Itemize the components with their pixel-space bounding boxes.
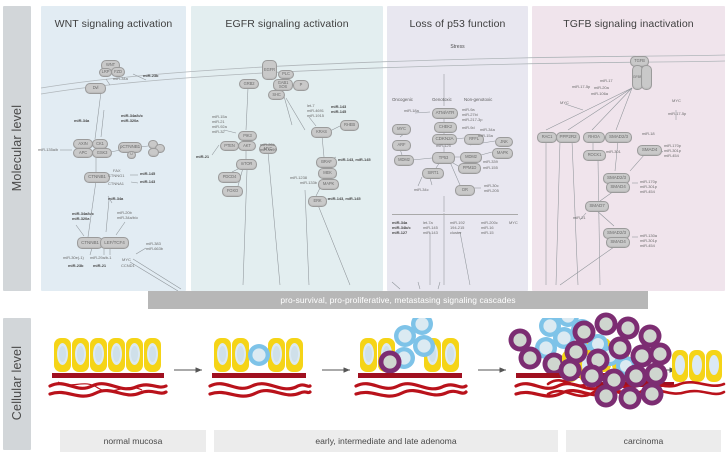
- mirna-label: miR-130a miR-301p miR-454: [640, 234, 657, 249]
- mirna-label: miR-133b: [300, 181, 317, 186]
- node-ppp2r2: PPP2R2: [556, 132, 580, 143]
- node-ppm1d: PPM1D: [458, 163, 481, 174]
- p53-bottom-divider: [392, 214, 518, 215]
- mirna-label: miR-106a: [591, 92, 608, 97]
- node-mtor: mTOR: [236, 159, 257, 170]
- mirna-label: miR-17-5p: [668, 112, 686, 117]
- p53-column-header: Genotoxic: [432, 97, 452, 102]
- node-tp53: TP53: [432, 152, 455, 164]
- mirna-label: miR-29a/b-1: [90, 256, 111, 261]
- mirna-label: miR-34a/b/c miR-320a: [72, 212, 94, 222]
- protein-text-ctnna1: CTNNA1: [108, 181, 124, 186]
- mirna-label: miR-34a: [108, 197, 123, 202]
- mirna-label: miR-21: [196, 155, 209, 160]
- node-rheb: RHEB: [340, 120, 359, 131]
- node-mdm2: MDM2: [460, 152, 482, 163]
- mirna-label: miR-21: [573, 216, 586, 221]
- mirna-label: miR-143, miR-145: [328, 197, 361, 202]
- panel-tgfb-signaling: TGFB signaling inactivation: [532, 6, 725, 291]
- node-chek2: CHEK2: [434, 122, 457, 133]
- node-mek: MEK: [318, 168, 337, 179]
- node-dr: DR: [455, 185, 475, 196]
- node-rhoa: RHOA: [583, 132, 605, 143]
- node-erk: ERK: [308, 196, 327, 207]
- mirna-label: miR-30e(-1): [63, 256, 84, 261]
- cascade-summary-label: pro-survival, pro-proliferative, metasta…: [280, 295, 515, 305]
- node-atm-atr: ATM/ATR: [432, 108, 458, 119]
- protein-text-myc-t2: MYC: [672, 98, 681, 103]
- stage-label-adenoma: early, intermediate and late adenoma: [214, 430, 558, 452]
- mirna-label: miR-18a: [404, 109, 419, 114]
- node-shc: SHC: [268, 90, 285, 100]
- mirna-label: miR-17-5p: [572, 85, 590, 90]
- mirna-label: let-7a miR-145 miR-143: [423, 221, 438, 236]
- node-smad4c: SMAD4: [606, 237, 630, 248]
- mirna-label: miR-200c miR-16 miR-15: [481, 221, 498, 236]
- node-myc-p: MYC: [392, 124, 411, 135]
- stage-label-normal-mucosa: normal mucosa: [60, 430, 206, 452]
- node-p-node: P: [293, 80, 309, 91]
- mirna-label: MYC: [509, 221, 518, 226]
- mirna-label: miR-34a: [74, 119, 89, 124]
- mirna-label: miR-34a: [480, 128, 495, 133]
- mirna-label: miR-145: [140, 172, 155, 177]
- mirna-label: miR-20b miR-34a/b/c: [117, 211, 138, 221]
- mirna-label: miR-301: [606, 150, 621, 155]
- mirna-label: miR-383 miR-663b: [146, 242, 163, 252]
- panel-title-wnt: WNT signaling activation: [41, 18, 186, 30]
- node-mapk: MAPK: [318, 179, 339, 190]
- node-akt: AKT: [238, 141, 256, 151]
- level-bar-molecular: Molecular level: [3, 6, 31, 291]
- mirna-label: miR-15a miR-21 miR-92a miR-32: [212, 115, 227, 135]
- node-tgfbr1: [641, 65, 652, 90]
- protein-text-myc: MYC: [122, 257, 131, 262]
- stage-label-carcinoma: carcinoma: [566, 430, 721, 452]
- mirna-label: miR-170p miR-301p miR-454: [664, 144, 681, 159]
- p53-column-header: Non-genotoxic: [464, 97, 492, 102]
- stage-adenoma-text: early, intermediate and late adenoma: [315, 436, 456, 446]
- node-smad4a: SMAD4: [637, 145, 662, 156]
- node-egfr: EGFR: [262, 60, 277, 80]
- mirna-label: let-7 miR-4691 miR-1915: [307, 104, 324, 119]
- mirna-label: miR-23b: [143, 74, 158, 79]
- stage-normal-text: normal mucosa: [104, 436, 163, 446]
- mirna-label: miR-34a/b/c miR-320a: [121, 114, 143, 124]
- mirna-label: miR-30c miR-205: [484, 184, 499, 194]
- node-proteasome3: [148, 148, 159, 157]
- node-ub: U: [127, 151, 136, 159]
- node-smad4b: SMAD4: [606, 182, 630, 193]
- node-sirt1: SIRT1: [422, 168, 444, 179]
- mirna-label: miR-192 194-215 cluster: [450, 221, 465, 236]
- cascade-summary-bar: pro-survival, pro-proliferative, metasta…: [148, 291, 648, 309]
- mirna-label: miR-21: [93, 264, 106, 269]
- node-lef-tcf4: LEF/TCF4: [100, 237, 129, 249]
- node-pten: PTEN: [220, 141, 239, 151]
- mirna-label: miR-34c: [414, 188, 429, 193]
- mirna-label: miR-143 miR-145: [331, 105, 346, 115]
- node-apc: APC: [73, 148, 93, 158]
- panel-title-egfr: EGFR signaling activation: [191, 18, 383, 30]
- node-braf: BRAF: [316, 157, 337, 168]
- panel-title-tgfb: TGFB signaling inactivation: [532, 18, 725, 30]
- node-plc: PLC: [278, 70, 294, 79]
- mirna-label: miR-26b miR-ss99: [260, 143, 277, 153]
- mirna-label: miR-125: [436, 144, 451, 149]
- mirna-label: miR-143, miR-145: [338, 158, 371, 163]
- mirna-label: miR-170p miR-301p miR-454: [640, 180, 657, 195]
- mirna-label: miR-9d: [462, 126, 475, 131]
- mirna-label: miR-18: [642, 132, 655, 137]
- node-mdm2b: MDM2: [394, 155, 414, 166]
- node-kras: KRAS: [311, 127, 332, 138]
- node-ctnnb1-free: CTNNB1: [84, 172, 110, 183]
- mirna-label: miR-34a miR-34b/c miR-127: [392, 221, 411, 236]
- protein-text-ccnd1: CCND1: [121, 263, 135, 268]
- level-bar-cellular: Cellular level: [3, 318, 31, 450]
- node-smad7: SMAD7: [585, 201, 609, 212]
- carcinoma-artwork: [540, 310, 728, 430]
- panel-title-p53: Loss of p53 function: [387, 18, 528, 30]
- mirna-label: miR-155: [483, 166, 498, 171]
- stage-carcinoma-text: carcinoma: [624, 436, 664, 446]
- node-arf: ARF: [392, 140, 411, 151]
- node-smad23a: SMAD2/3: [605, 132, 632, 143]
- node-dvl: Dvl: [85, 83, 106, 94]
- node-mapk-p: MAPK: [492, 148, 513, 159]
- p53-column-header: Oncogenic: [392, 97, 413, 102]
- mirna-label: miR-143: [140, 180, 155, 185]
- level-label-molecular: Molecular level: [10, 100, 24, 196]
- mirna-label: miR-23b: [68, 264, 83, 269]
- mirna-label: miR-9a miR-27bi miR-217-3p: [462, 108, 482, 123]
- p53-stress-label: Stress: [387, 44, 528, 50]
- level-label-cellular: Cellular level: [10, 341, 24, 425]
- node-grb2: GRB2: [239, 79, 259, 89]
- protein-text-myc-t1: MYC: [560, 100, 569, 105]
- mirna-label: miR-17: [600, 79, 613, 84]
- node-gsk3: GSK3: [92, 148, 112, 158]
- mirna-label: miR-34a: [113, 77, 128, 82]
- mirna-label: miR-15a: [478, 134, 493, 139]
- node-jnk: JNK: [495, 137, 513, 147]
- mirna-label: miR-135a/b: [38, 148, 58, 153]
- node-pdcd4: PDCD4: [218, 172, 241, 183]
- node-rock1: ROCK1: [583, 150, 606, 161]
- protein-text-ctnng1: CTNNG1: [108, 173, 124, 178]
- node-pik3: PIK3: [238, 131, 257, 141]
- node-foxo: FOXO: [222, 186, 243, 197]
- node-rac1: RAC1: [537, 132, 557, 143]
